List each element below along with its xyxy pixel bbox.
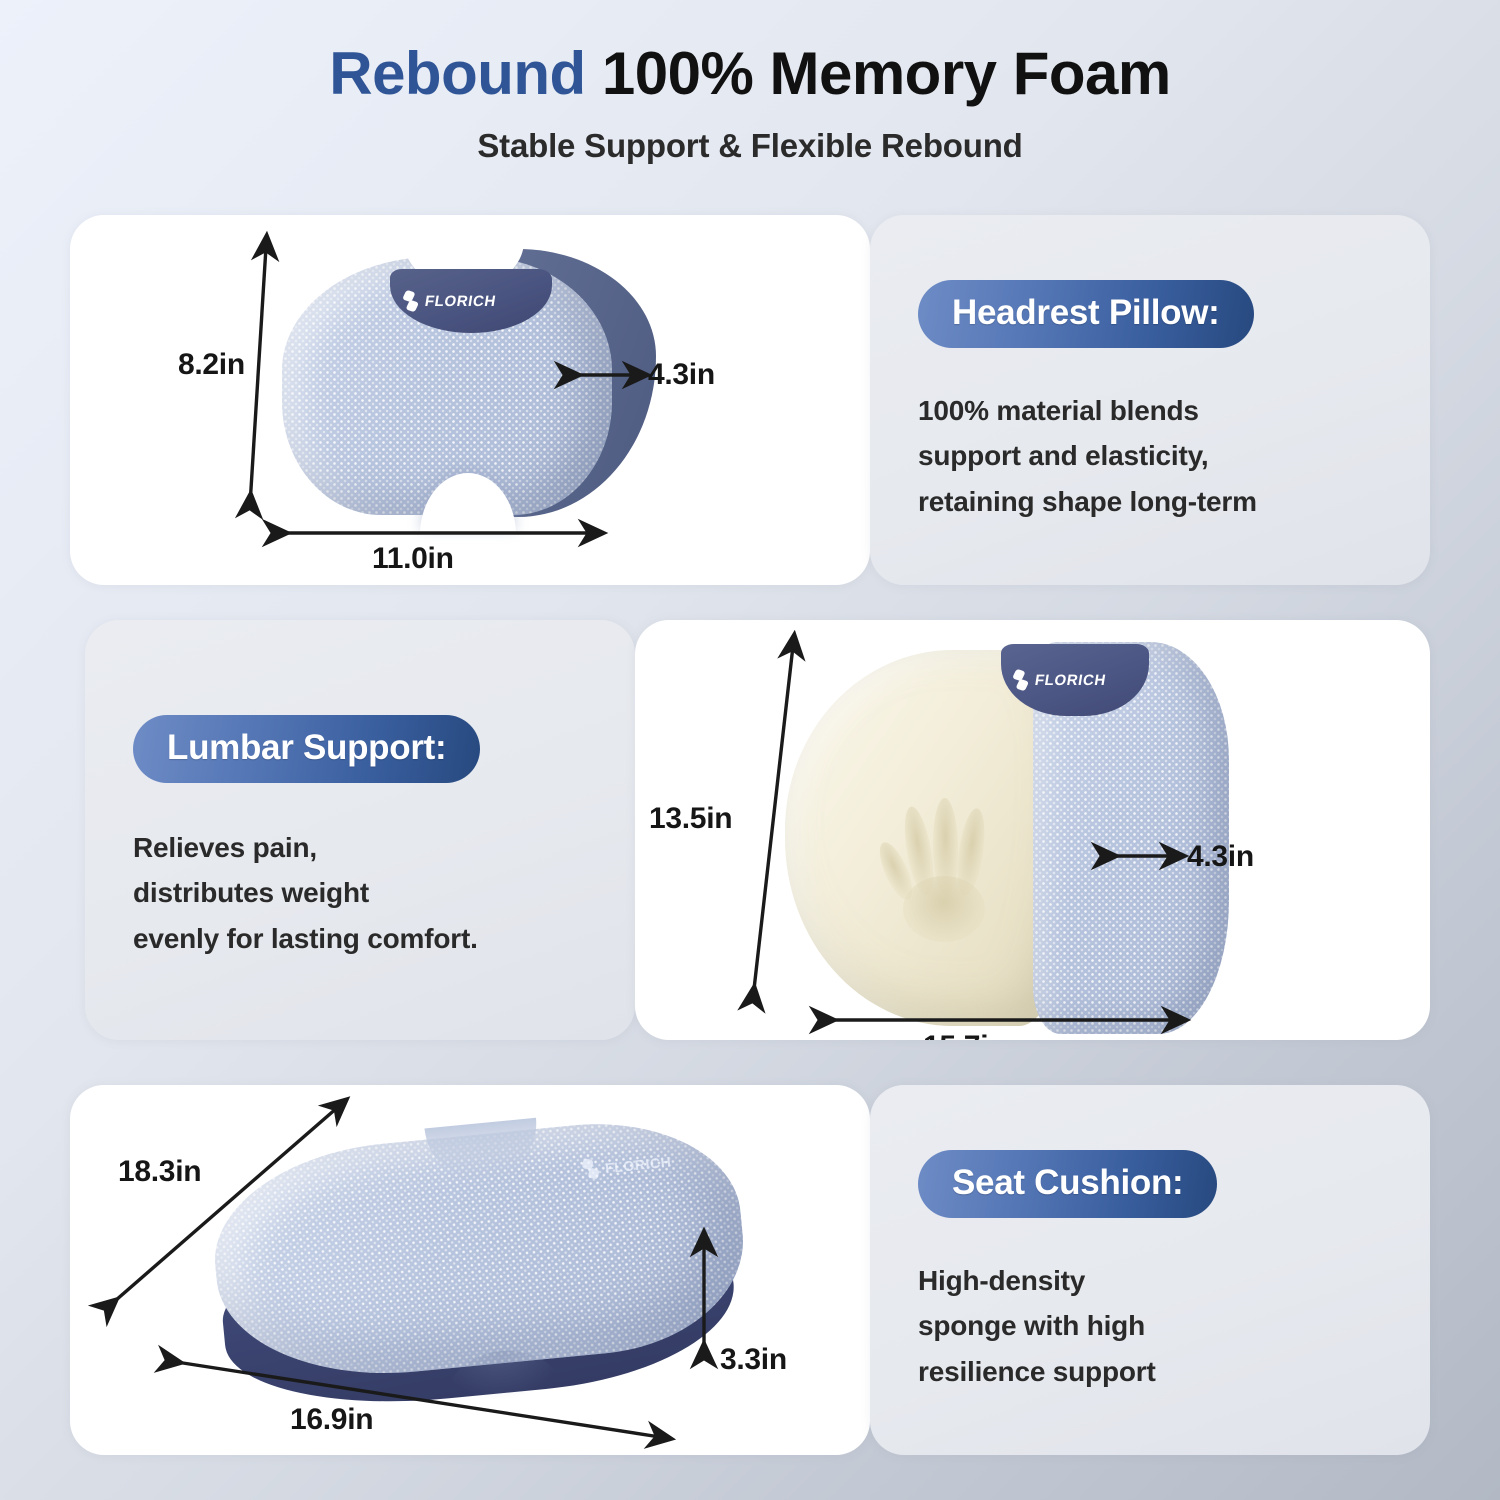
florich-logo-text: FLORICH — [604, 1153, 672, 1176]
florich-logo: FLORICH — [401, 291, 497, 312]
florich-logo-text: FLORICH — [1034, 672, 1108, 689]
seat-cushion-depth-label: 18.3in — [118, 1155, 201, 1189]
seat-cushion-body-line-1: High-density — [918, 1258, 1217, 1303]
section-headrest: FLORICH 8.2in 11.0in 4.3in Headrest Pill… — [70, 215, 1430, 585]
lumbar-text-block: Lumbar Support: Relieves pain, distribut… — [133, 715, 480, 961]
headrest-body-line-2: support and elasticity, — [918, 433, 1257, 478]
section-lumbar: Lumbar Support: Relieves pain, distribut… — [85, 620, 1430, 1040]
lumbar-width-label: 15.7in — [923, 1030, 1006, 1040]
headrest-width-label: 11.0in — [372, 542, 454, 576]
headrest-body-text: 100% material blends support and elastic… — [918, 388, 1257, 524]
headrest-body-line-3: retaining shape long-term — [918, 479, 1257, 524]
lumbar-body-line-2: distributes weight — [133, 870, 480, 915]
title-plain-words: 100% Memory Foam — [602, 40, 1171, 107]
page-header: Rebound 100% Memory Foam Stable Support … — [0, 0, 1500, 165]
page-title: Rebound 100% Memory Foam — [0, 42, 1500, 105]
section-seat-cushion: FLORICH 18.3in 16.9in 3.3in Seat Cushion… — [70, 1085, 1430, 1455]
seat-cushion-text-block: Seat Cushion: High-density sponge with h… — [918, 1150, 1217, 1394]
lumbar-image-card: FLORICH 13.5in 15.7in 4.3in — [635, 620, 1430, 1040]
florich-logo-text: FLORICH — [424, 293, 498, 310]
florich-logo-mark-icon — [401, 291, 419, 312]
title-accent-word: Rebound — [329, 40, 585, 107]
seat-cushion-body-text: High-density sponge with high resilience… — [918, 1258, 1217, 1394]
headrest-height-label: 8.2in — [178, 348, 245, 382]
seat-cushion-height-label: 3.3in — [720, 1343, 787, 1377]
seat-cushion-illustration: FLORICH — [205, 1115, 765, 1425]
florich-logo: FLORICH — [1011, 670, 1107, 691]
seat-cushion-width-label: 16.9in — [290, 1403, 373, 1437]
lumbar-height-label: 13.5in — [649, 802, 732, 836]
headrest-badge: Headrest Pillow: — [918, 280, 1254, 348]
headrest-depth-label: 4.3in — [648, 358, 715, 392]
lumbar-badge: Lumbar Support: — [133, 715, 480, 783]
florich-logo-mark-icon — [1011, 670, 1029, 691]
seat-cushion-badge: Seat Cushion: — [918, 1150, 1217, 1218]
seat-cushion-body-line-2: sponge with high — [918, 1303, 1217, 1348]
headrest-bottom-notch — [420, 473, 516, 535]
headrest-image-card: FLORICH 8.2in 11.0in 4.3in — [70, 215, 870, 585]
lumbar-text-card: Lumbar Support: Relieves pain, distribut… — [85, 620, 635, 1040]
lumbar-body-text: Relieves pain, distributes weight evenly… — [133, 825, 480, 961]
headrest-text-block: Headrest Pillow: 100% material blends su… — [918, 280, 1257, 524]
seat-cushion-text-card: Seat Cushion: High-density sponge with h… — [870, 1085, 1430, 1455]
seat-cushion-image-card: FLORICH 18.3in 16.9in 3.3in — [70, 1085, 870, 1455]
headrest-body-line-1: 100% material blends — [918, 388, 1257, 433]
lumbar-support-illustration: FLORICH — [785, 642, 1255, 1032]
headrest-text-card: Headrest Pillow: 100% material blends su… — [870, 215, 1430, 585]
headrest-pillow-illustration: FLORICH — [270, 247, 670, 527]
lumbar-body-line-1: Relieves pain, — [133, 825, 480, 870]
lumbar-body-line-3: evenly for lasting comfort. — [133, 916, 480, 961]
lumbar-depth-label: 4.3in — [1187, 840, 1254, 874]
handprint-impression — [881, 798, 1011, 948]
page-subtitle: Stable Support & Flexible Rebound — [0, 127, 1500, 165]
seat-cushion-body-line-3: resilience support — [918, 1349, 1217, 1394]
florich-logo-mark-icon — [582, 1158, 599, 1180]
handprint-palm — [903, 876, 985, 942]
